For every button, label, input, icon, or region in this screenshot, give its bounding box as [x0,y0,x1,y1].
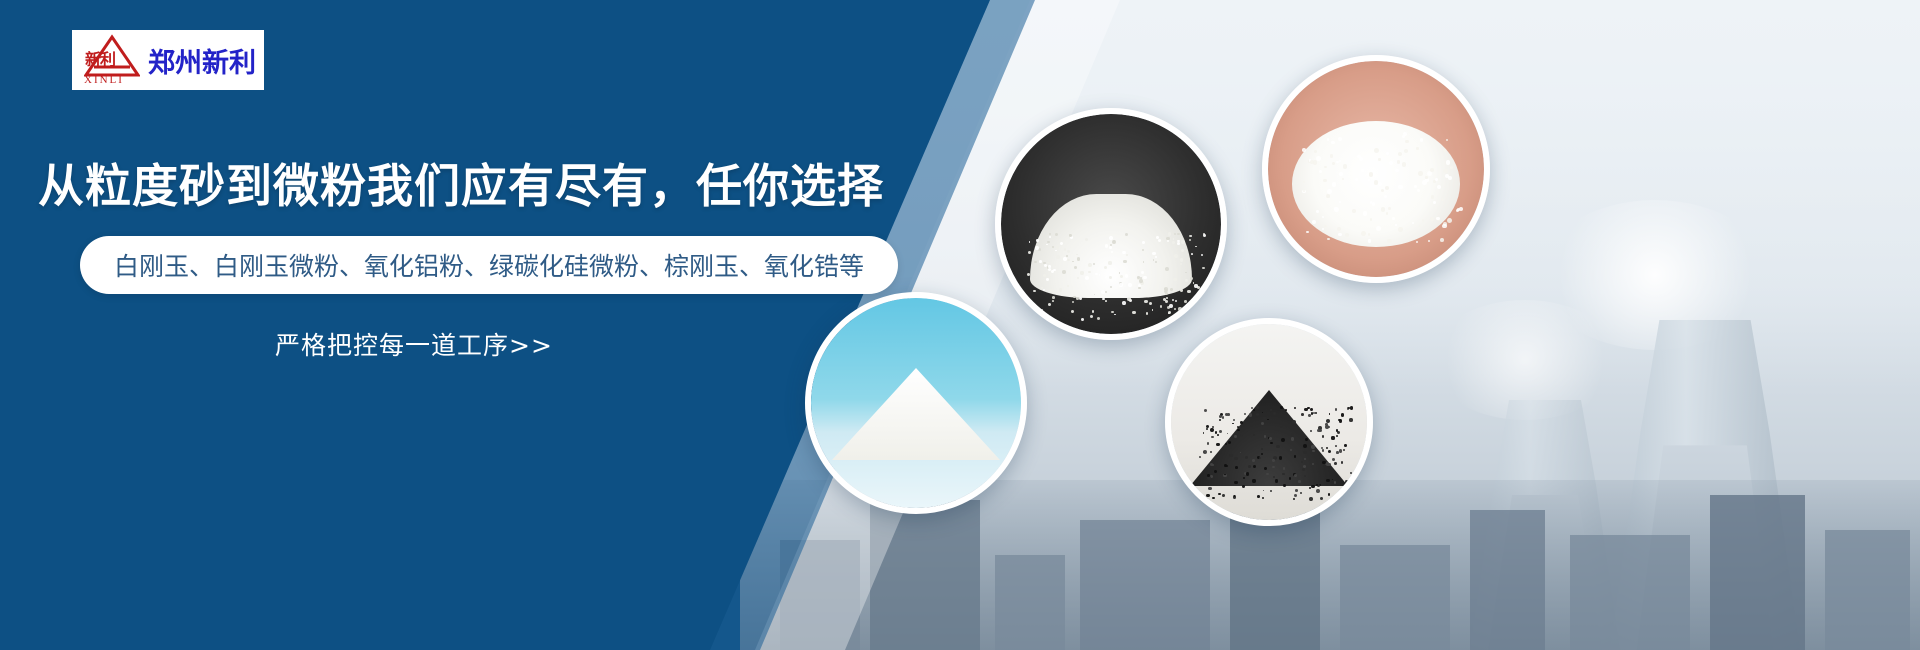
grain-speck [1332,182,1337,187]
grain-speck [1203,450,1207,454]
grain-speck [1339,419,1343,423]
grain-speck [1422,219,1424,221]
grain-speck [1412,222,1414,224]
product-photo-white-grit-on-dark-tray [995,108,1227,340]
grain-speck [1328,493,1330,495]
grain-speck [1281,438,1285,442]
grain-speck [1335,408,1337,410]
grain-speck [1181,249,1184,252]
grain-speck [1312,450,1315,453]
grain-speck [1144,300,1147,303]
grain-speck [1036,239,1038,241]
grain-speck [1156,236,1159,239]
grain-speck [1291,437,1294,440]
grain-speck [1046,278,1048,280]
grain-speck [1031,304,1033,306]
grain-speck [1193,303,1196,306]
grain-speck [1276,445,1280,449]
tagline-link[interactable]: 严格把控每一道工序>> [275,326,553,362]
grain-speck [1049,236,1051,238]
grain-speck [1335,445,1337,447]
grain-speck [1125,274,1128,277]
grain-speck [1257,495,1260,498]
grain-speck [1252,479,1255,482]
grain-speck [1343,164,1347,168]
building [995,555,1065,650]
product-list-pill[interactable]: 白刚玉、白刚玉微粉、氧化铝粉、绿碳化硅微粉、棕刚玉、氧化锆等 [80,236,898,294]
grain-speck [1312,463,1314,465]
grain-speck [1326,479,1329,482]
grain-speck [1285,409,1287,411]
grain-speck [1316,484,1318,486]
grain-speck [1270,442,1272,444]
grain-speck [1039,312,1041,314]
grain-speck [1418,171,1423,176]
grain-speck [1322,461,1325,464]
grain-speck [1349,418,1353,422]
grain-speck [1064,248,1066,250]
grain-speck [1425,176,1428,179]
grain-speck [1311,445,1314,448]
grain-speck [1252,459,1255,462]
grain-speck [1114,314,1116,316]
grain-speck [1280,426,1282,428]
grain-speck [1185,279,1187,281]
grain-speck [1128,283,1131,286]
grain-speck [1206,494,1209,497]
grain-speck [1443,149,1446,152]
product-list-text: 白刚玉、白刚玉微粉、氧化铝粉、绿碳化硅微粉、棕刚玉、氧化锆等 [114,247,864,283]
grain-speck [1204,409,1207,412]
grain-speck [1308,414,1310,416]
grain-speck [1332,162,1335,165]
grain-speck [1263,417,1266,420]
grain-speck [1304,458,1306,460]
grain-speck [1307,407,1309,409]
grain-speck [1397,160,1400,163]
grain-speck [1374,148,1379,153]
grain-speck [1398,227,1403,232]
grain-speck [1105,276,1107,278]
grain-speck [1441,198,1444,201]
product-photo-white-powder-on-dish [1262,55,1490,283]
grain-speck [1028,251,1031,254]
grain-speck [1298,480,1301,483]
logo-mark-text: 新利 [85,46,115,70]
grain-speck [1039,260,1042,263]
grain-speck [1348,482,1350,484]
grain-speck [1122,301,1126,305]
grain-speck [1219,415,1222,418]
grain-speck [1248,465,1251,468]
company-logo[interactable]: 新利 XINLI 郑州新利 [72,30,264,90]
grain-speck [1381,207,1385,211]
headline: 从粒度砂到微粉我们应有尽有，任你选择 [38,150,884,216]
grain-speck [1155,261,1157,263]
grain-speck [1253,409,1255,411]
grain-speck [1088,271,1090,273]
grain-speck [1105,291,1107,293]
grain-speck [1184,300,1187,303]
grain-speck [1177,242,1180,245]
grain-speck [1033,290,1035,292]
grain-speck [1433,201,1436,204]
grain-speck [1361,231,1366,236]
grain-speck [1327,189,1332,194]
building [1470,510,1545,650]
grain-speck [1155,256,1157,258]
grain-speck [1322,435,1324,437]
grain-speck [1341,413,1344,416]
grain-speck [1108,261,1111,264]
grain-speck [1104,266,1107,269]
grain-speck [1398,185,1402,189]
grain-speck [1279,456,1282,459]
grain-speck [1194,317,1197,320]
grain-speck [1173,278,1176,281]
grain-speck [1352,209,1356,213]
grain-speck [1234,481,1237,484]
grain-speck [1378,158,1380,160]
grain-speck [1386,212,1389,215]
grain-speck [1368,239,1372,243]
grain-speck [1035,246,1039,250]
grain-speck [1388,207,1391,210]
grain-speck [1205,498,1208,501]
grain-speck [1316,210,1318,212]
grain-speck [1440,238,1444,242]
grain-speck [1178,307,1182,311]
grain-speck [1404,149,1408,153]
grain-speck [1207,442,1209,444]
grain-speck [1338,137,1342,141]
product-photo-black-grit-pile [1165,318,1373,526]
grain-speck [1125,233,1128,236]
grain-speck [1345,233,1349,237]
grain-speck [1080,271,1083,274]
grain-speck [1105,244,1108,247]
grain-speck [1210,428,1214,432]
grain-speck [1342,488,1345,491]
grain-speck [1344,444,1347,447]
grain-speck [1316,489,1320,493]
grain-speck [1450,166,1453,169]
grain-speck [1052,300,1054,302]
grain-speck [1043,289,1045,291]
grain-speck [1062,270,1066,274]
grain-speck [1334,207,1337,210]
grain-speck [1345,480,1348,483]
grain-speck [1315,412,1317,414]
building [1825,530,1910,650]
grain-speck [1253,465,1256,468]
grain-speck [1363,211,1368,216]
grain-speck [1376,226,1381,231]
grain-speck [1309,497,1313,501]
grain-speck [1291,433,1295,437]
grain-speck [1261,422,1264,425]
grain-speck [1295,489,1298,492]
grain-speck [1457,208,1460,211]
grain-speck [1253,434,1255,436]
grain-speck [1334,462,1337,465]
grain-speck [1237,426,1239,428]
building [1570,535,1690,650]
grain-speck [1327,238,1329,240]
grain-speck [1428,240,1430,242]
grain-speck [1389,161,1393,165]
grain-speck [1240,421,1243,424]
triangle-logo-icon: 新利 XINLI [80,32,144,88]
grain-speck [1405,140,1408,143]
grain-speck [1302,468,1305,471]
grain-speck [1048,303,1051,306]
grain-speck [1174,308,1176,310]
grain-speck [1425,178,1429,182]
grain-speck [1416,147,1419,150]
grain-speck [1187,290,1190,293]
grain-speck [1167,240,1169,242]
grain-speck [1169,304,1173,308]
grain-speck [1436,217,1440,221]
grain-speck [1139,279,1143,283]
grain-speck [1331,436,1334,439]
grain-speck [1302,148,1306,152]
grain-speck [1283,484,1286,487]
grain-speck [1138,284,1141,287]
grain-speck [1437,185,1441,189]
grain-speck [1123,260,1126,263]
grain-speck [1090,315,1093,318]
grain-speck [1327,138,1329,140]
grain-speck [1077,277,1079,279]
grain-speck [1337,227,1341,231]
grain-speck [1132,311,1135,314]
grain-speck [1342,178,1345,181]
grain-speck [1448,176,1452,180]
grain-speck [1270,409,1272,411]
grain-speck [1185,307,1188,310]
grain-speck [1328,450,1331,453]
grain-speck [1339,172,1343,176]
grain-speck [1230,447,1232,449]
grain-speck [1368,233,1371,236]
grain-speck [1324,225,1326,227]
grain-speck [1234,435,1237,438]
grain-speck [1303,181,1305,183]
grain-speck [1027,298,1030,301]
building [1710,495,1805,650]
grain-speck [1056,246,1059,249]
promo-banner: 新利 XINLI 郑州新利 从粒度砂到微粉我们应有尽有，任你选择 白刚玉、白刚玉… [0,0,1920,650]
grain-speck [1361,169,1364,172]
grain-speck [1081,318,1084,321]
grain-speck [1322,228,1324,230]
grain-speck [1158,239,1161,242]
grain-speck [1211,436,1214,439]
grain-speck [1282,473,1285,476]
grain-speck [1059,288,1062,291]
grain-speck [1338,233,1342,237]
grain-speck [1112,240,1116,244]
grain-speck [1229,454,1232,457]
grain-speck [1244,413,1246,415]
grain-speck [1378,182,1382,186]
grain-speck [1372,202,1375,205]
product-photo-white-cone-on-cyan [805,292,1027,514]
grain-speck [1105,300,1107,302]
grain-speck [1056,255,1060,259]
grain-speck [1174,254,1178,258]
grain-speck [1301,413,1304,416]
grain-speck [1165,267,1169,271]
grain-speck [1029,306,1031,308]
grain-speck [1079,297,1082,300]
grain-speck [1384,195,1387,198]
grain-speck [1246,472,1249,475]
grain-speck [1085,276,1089,280]
grain-speck [1334,481,1337,484]
grain-speck [1311,485,1314,488]
grain-speck [1280,406,1283,409]
grain-speck [1066,255,1068,257]
grain-speck [1072,301,1074,303]
grain-speck [1142,241,1145,244]
grain-speck [1336,451,1339,454]
grain-speck [1228,441,1231,444]
grain-speck [1310,430,1312,432]
grain-speck [1143,276,1147,280]
grain-speck [1097,317,1100,320]
grain-speck [1077,257,1081,261]
building [1340,545,1450,650]
grain-speck [1140,277,1142,279]
grain-speck [1181,240,1185,244]
grain-speck [1430,217,1434,221]
grain-speck [1212,497,1214,499]
grain-speck [1203,313,1207,317]
grain-speck [1403,132,1407,136]
grain-speck [1392,217,1395,220]
grain-speck [1203,432,1205,434]
grain-speck [1256,413,1259,416]
grain-speck [1324,166,1327,169]
grain-speck [1202,267,1204,269]
grain-speck [1331,141,1334,144]
grain-speck [1326,463,1329,466]
grain-speck [1395,169,1399,173]
grain-speck [1326,447,1328,449]
grain-speck [1325,423,1327,425]
grain-speck [1172,241,1175,244]
grain-speck [1303,444,1307,448]
grain-speck [1283,467,1286,470]
grain-speck [1088,263,1092,267]
grain-speck [1044,316,1047,319]
grain-speck [1034,261,1036,263]
logo-mark-pinyin: XINLI [84,74,124,86]
grain-speck [1270,490,1272,492]
grain-speck [1370,218,1373,221]
grain-speck [1119,283,1122,286]
company-name: 郑州新利 [148,41,256,80]
grain-speck [1126,254,1128,256]
grain-speck [1109,246,1112,249]
grain-speck [1177,233,1179,235]
grain-speck [1194,284,1197,287]
grain-speck [1267,419,1269,421]
building [1080,520,1210,650]
